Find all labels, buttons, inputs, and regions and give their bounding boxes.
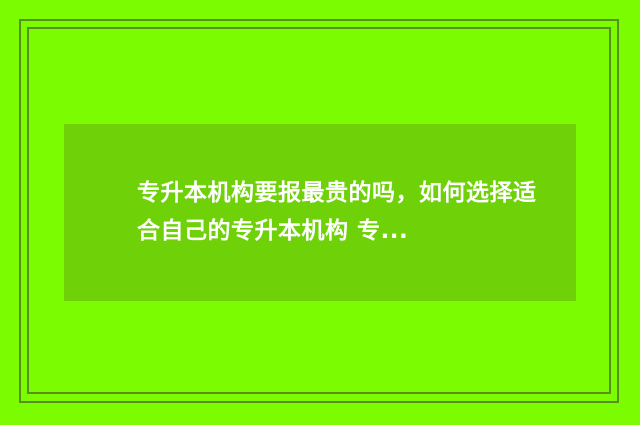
image-canvas: 专升本机构要报最贵的吗，如何选择适合自己的专升本机构 专... xyxy=(0,0,640,425)
content-panel: 专升本机构要报最贵的吗，如何选择适合自己的专升本机构 专... xyxy=(64,124,576,301)
headline-text: 专升本机构要报最贵的吗，如何选择适合自己的专升本机构 专... xyxy=(137,174,537,250)
